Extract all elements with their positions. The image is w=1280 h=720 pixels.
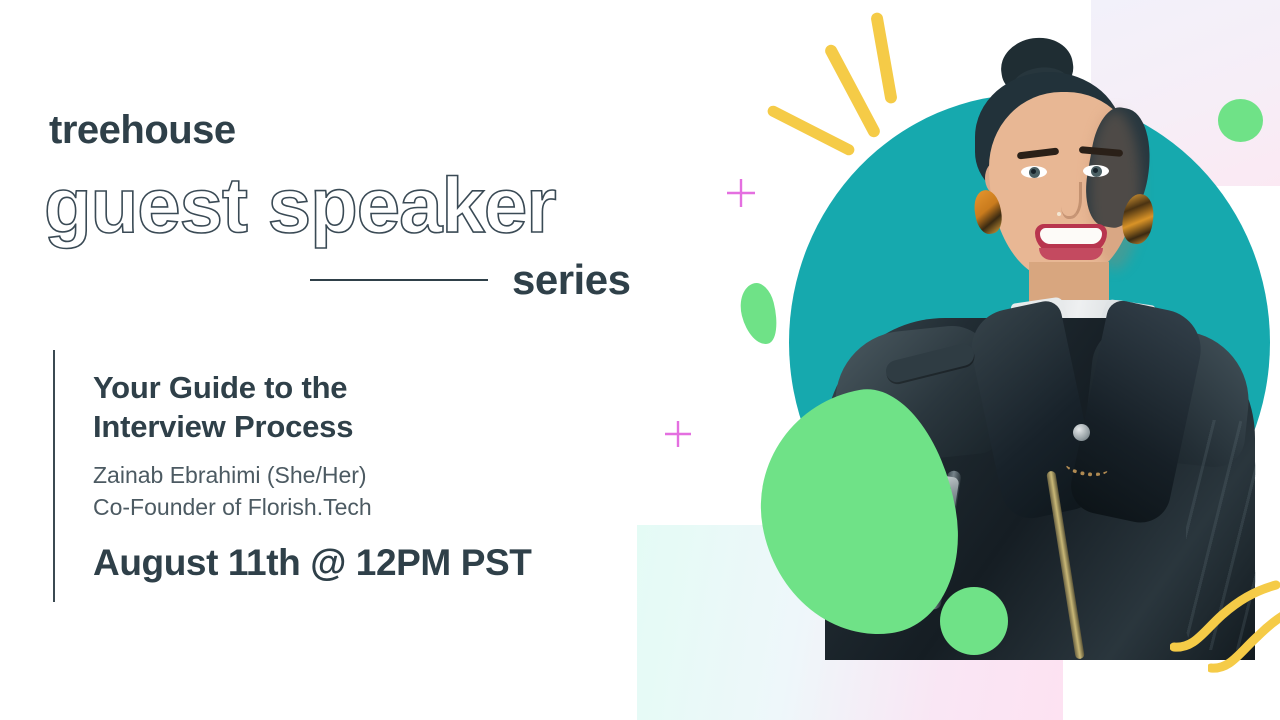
session-info: Your Guide to the Interview Process Zain…	[53, 350, 623, 602]
series-label: series	[512, 256, 630, 304]
jacket-snap-button	[1073, 424, 1090, 441]
eye-left	[1021, 166, 1047, 178]
nose-stud	[1057, 212, 1061, 216]
plus-mark-icon	[726, 178, 756, 208]
speaker-role: Co-Founder of Florish.Tech	[93, 492, 531, 524]
green-oval-dot	[1218, 99, 1263, 142]
slide-canvas: treehouse guest speaker series Your Guid…	[0, 0, 1280, 720]
brand-wordmark: treehouse	[49, 108, 236, 153]
eye-right	[1083, 165, 1109, 177]
lower-lip	[1039, 248, 1103, 260]
plus-mark-icon	[664, 420, 692, 448]
yellow-wave-icon	[1208, 592, 1280, 680]
page-title: guest speaker	[44, 166, 556, 244]
speaker-name: Zainab Ebrahimi (She/Her)	[93, 460, 531, 492]
session-title: Your Guide to the Interview Process	[93, 368, 531, 446]
green-blob-small	[735, 280, 783, 348]
vertical-divider	[53, 350, 55, 602]
green-circle-dot	[940, 587, 1008, 655]
session-datetime: August 11th @ 12PM PST	[93, 542, 531, 584]
series-divider	[310, 279, 488, 281]
series-row: series	[310, 252, 625, 308]
